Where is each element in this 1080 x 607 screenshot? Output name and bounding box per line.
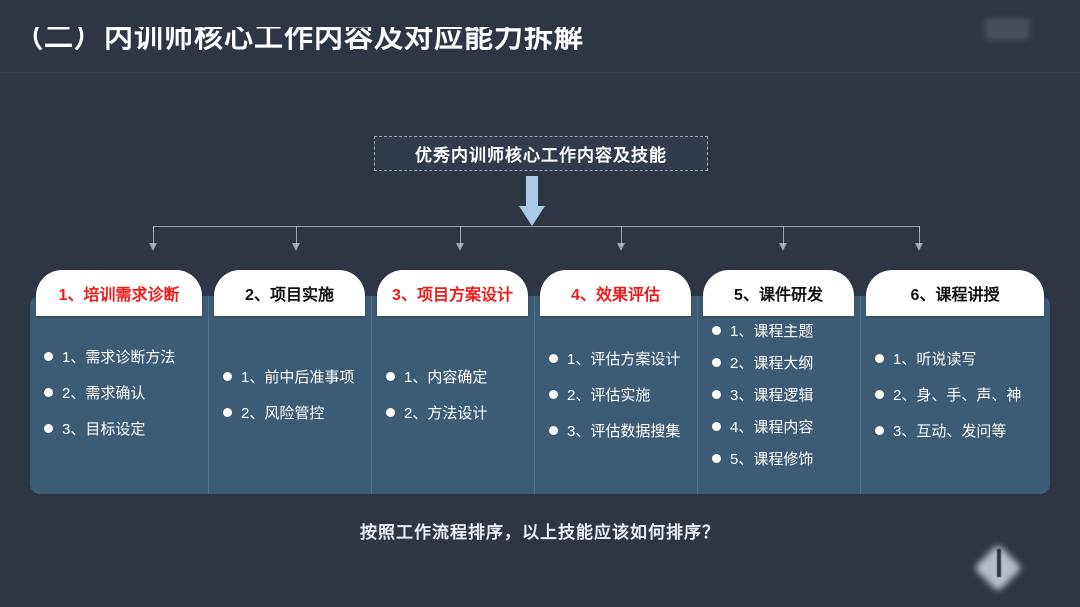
column-4-body: 1、评估方案设计 2、评估实施 3、评估数据搜集 (534, 296, 697, 494)
bullet-icon (386, 372, 395, 381)
list-item[interactable]: 1、评估方案设计 (549, 348, 687, 369)
heading-box: 优秀内训师核心工作内容及技能 (374, 136, 708, 171)
nav-bar (997, 549, 1001, 577)
bullet-icon (549, 390, 558, 399)
list-item-label: 1、听说读写 (893, 348, 976, 369)
page-title-text: （二）内训师核心工作内容及对应能力拆解 (14, 27, 1034, 56)
arrow-down-small-icon (149, 226, 158, 252)
column-5-items: 1、课程主题 2、课程大纲 3、课程逻辑 4、课程内容 (698, 320, 860, 480)
list-item-label: 4、课程内容 (730, 416, 813, 437)
column-2-header[interactable]: 2、项目实施 (214, 270, 365, 316)
list-item-label: 2、风险管控 (241, 402, 324, 423)
column-2-items: 1、前中后准事项 2、风险管控 (209, 366, 371, 438)
list-item[interactable]: 3、评估数据搜集 (549, 420, 687, 441)
list-item-label: 1、评估方案设计 (567, 348, 680, 369)
column-5[interactable]: 1、课程主题 2、课程大纲 3、课程逻辑 4、课程内容 (697, 270, 860, 494)
arrow-down-small-icon (617, 226, 626, 252)
footer-question: 按照工作流程排序，以上技能应该如何排序？ (0, 518, 1080, 543)
list-item-label: 2、方法设计 (404, 402, 487, 423)
list-item[interactable]: 2、评估实施 (549, 384, 687, 405)
arrow-down-small-icon (915, 226, 924, 252)
list-item-label: 2、课程大纲 (730, 352, 813, 373)
bullet-icon (44, 352, 53, 361)
list-item[interactable]: 3、目标设定 (44, 418, 198, 439)
column-1[interactable]: 1、需求诊断方法 2、需求确认 3、目标设定 1、培训需求诊断 (30, 270, 208, 494)
tick-head (779, 243, 787, 251)
list-item-label: 1、内容确定 (404, 366, 487, 387)
column-6[interactable]: 1、听说读写 2、身、手、声、神 3、互动、发问等 6、课程讲授 (860, 270, 1050, 494)
list-item-label: 3、目标设定 (62, 418, 145, 439)
skills-board: 1、需求诊断方法 2、需求确认 3、目标设定 1、培训需求诊断 (30, 270, 1050, 494)
bullet-icon (712, 326, 721, 335)
column-3-items: 1、内容确定 2、方法设计 (372, 366, 534, 438)
bullet-icon (875, 426, 884, 435)
column-2[interactable]: 1、前中后准事项 2、风险管控 2、项目实施 (208, 270, 371, 494)
list-item-label: 1、前中后准事项 (241, 366, 354, 387)
bullet-icon (44, 388, 53, 397)
bullet-icon (712, 358, 721, 367)
footer-question-label: 按照工作流程排序，以上技能应该如何排序？ (360, 523, 720, 542)
page-title: （二）内训师核心工作内容及对应能力拆解 (14, 27, 1034, 73)
list-item[interactable]: 1、内容确定 (386, 366, 524, 387)
list-item[interactable]: 1、需求诊断方法 (44, 346, 198, 367)
title-divider (0, 72, 1080, 73)
column-5-header-label: 5、课件研发 (734, 281, 823, 305)
list-item[interactable]: 1、听说读写 (875, 348, 1040, 369)
bullet-icon (44, 424, 53, 433)
column-4-header-label: 4、效果评估 (571, 281, 660, 305)
tick-head (149, 243, 157, 251)
column-1-body: 1、需求诊断方法 2、需求确认 3、目标设定 (30, 296, 208, 494)
arrow-head (519, 206, 545, 226)
list-item[interactable]: 2、需求确认 (44, 382, 198, 403)
bullet-icon (549, 354, 558, 363)
column-4-header[interactable]: 4、效果评估 (540, 270, 691, 316)
arrow-down-small-icon (292, 226, 301, 252)
tick-head (456, 243, 464, 251)
arrow-down-small-icon (456, 226, 465, 252)
list-item[interactable]: 1、前中后准事项 (223, 366, 361, 387)
list-item[interactable]: 2、身、手、声、神 (875, 384, 1040, 405)
bullet-icon (875, 354, 884, 363)
connector-rail (153, 226, 919, 227)
list-item[interactable]: 2、课程大纲 (712, 352, 850, 373)
column-3-header[interactable]: 3、项目方案设计 (377, 270, 528, 316)
list-item-label: 3、互动、发问等 (893, 420, 1006, 441)
list-item-label: 3、评估数据搜集 (567, 420, 680, 441)
column-1-items: 1、需求诊断方法 2、需求确认 3、目标设定 (30, 346, 208, 454)
list-item[interactable]: 4、课程内容 (712, 416, 850, 437)
bullet-icon (223, 408, 232, 417)
list-item[interactable]: 1、课程主题 (712, 320, 850, 341)
next-slide-icon[interactable] (978, 548, 1024, 594)
column-6-header[interactable]: 6、课程讲授 (866, 270, 1044, 316)
list-item[interactable]: 2、方法设计 (386, 402, 524, 423)
arrow-down-small-icon (779, 226, 788, 252)
list-item-label: 1、需求诊断方法 (62, 346, 175, 367)
column-1-header[interactable]: 1、培训需求诊断 (36, 270, 202, 316)
list-item[interactable]: 3、课程逻辑 (712, 384, 850, 405)
slide-canvas: （二）内训师核心工作内容及对应能力拆解 优秀内训师核心工作内容及技能 (0, 0, 1080, 607)
bullet-icon (549, 426, 558, 435)
arrow-shaft (526, 176, 538, 208)
tick-head (292, 243, 300, 251)
column-3-header-label: 3、项目方案设计 (392, 281, 513, 305)
column-6-header-label: 6、课程讲授 (911, 281, 1000, 305)
bullet-icon (386, 408, 395, 417)
arrow-down-icon (519, 176, 545, 226)
list-item-label: 2、身、手、声、神 (893, 384, 1021, 405)
list-item-label: 3、课程逻辑 (730, 384, 813, 405)
column-5-body: 1、课程主题 2、课程大纲 3、课程逻辑 4、课程内容 (697, 296, 860, 494)
column-4[interactable]: 1、评估方案设计 2、评估实施 3、评估数据搜集 4、效果评估 (534, 270, 697, 494)
bullet-icon (712, 390, 721, 399)
column-1-header-label: 1、培训需求诊断 (59, 281, 180, 305)
list-item[interactable]: 3、互动、发问等 (875, 420, 1040, 441)
list-item[interactable]: 5、课程修饰 (712, 448, 850, 469)
column-6-body: 1、听说读写 2、身、手、声、神 3、互动、发问等 (860, 296, 1050, 494)
bullet-icon (712, 454, 721, 463)
heading-box-label: 优秀内训师核心工作内容及技能 (415, 141, 667, 166)
column-6-items: 1、听说读写 2、身、手、声、神 3、互动、发问等 (861, 348, 1050, 456)
column-3-body: 1、内容确定 2、方法设计 (371, 296, 534, 494)
tick-head (915, 243, 923, 251)
list-item-label: 1、课程主题 (730, 320, 813, 341)
column-3[interactable]: 1、内容确定 2、方法设计 3、项目方案设计 (371, 270, 534, 494)
tick-head (617, 243, 625, 251)
bullet-icon (223, 372, 232, 381)
column-2-header-label: 2、项目实施 (245, 281, 334, 305)
list-item[interactable]: 2、风险管控 (223, 402, 361, 423)
list-item-label: 2、评估实施 (567, 384, 650, 405)
column-5-header[interactable]: 5、课件研发 (703, 270, 854, 316)
bullet-icon (875, 390, 884, 399)
list-item-label: 2、需求确认 (62, 382, 145, 403)
bullet-icon (712, 422, 721, 431)
column-2-body: 1、前中后准事项 2、风险管控 (208, 296, 371, 494)
list-item-label: 5、课程修饰 (730, 448, 813, 469)
column-4-items: 1、评估方案设计 2、评估实施 3、评估数据搜集 (535, 348, 697, 456)
